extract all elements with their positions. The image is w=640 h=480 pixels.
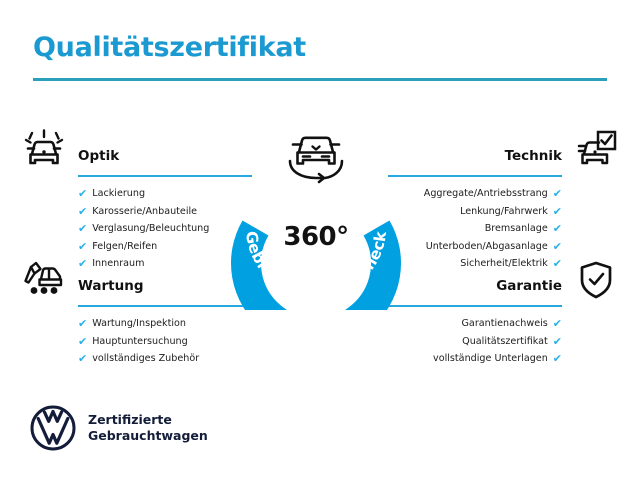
badge-360-gebrauchtwagen-check: Gebrauchtwagen-Check 360° bbox=[226, 124, 406, 310]
list-item-label: Felgen/Reifen bbox=[92, 238, 157, 256]
car-checkbox-icon bbox=[574, 128, 618, 172]
list-item: ✔Hauptuntersuchung bbox=[78, 333, 252, 351]
list-item-label: vollständige Unterlagen bbox=[433, 350, 548, 368]
checklist-garantie: ✔Garantienachweis ✔Qualitätszertifikat ✔… bbox=[388, 315, 618, 368]
badge-center-label: 360° bbox=[226, 224, 406, 250]
footer-line-2: Gebrauchtwagen bbox=[88, 428, 208, 444]
page-header: Qualitätszertifikat bbox=[33, 34, 607, 81]
list-item: ✔vollständiges Zubehör bbox=[78, 350, 252, 368]
check-icon: ✔ bbox=[78, 188, 87, 199]
list-item-label: Hauptuntersuchung bbox=[92, 333, 187, 351]
footer-line-1: Zertifizierte bbox=[88, 412, 208, 428]
check-icon: ✔ bbox=[78, 336, 87, 347]
section-divider-technik bbox=[388, 175, 562, 177]
list-item-label: Verglasung/Beleuchtung bbox=[92, 220, 209, 238]
footer-text: Zertifizierte Gebrauchtwagen bbox=[88, 412, 208, 444]
section-divider-garantie bbox=[388, 305, 562, 307]
section-optik: Optik ✔Lackierung ✔Karosserie/Anbauteile… bbox=[22, 128, 252, 273]
section-technik: Technik ✔Aggregate/Antriebsstrang ✔Lenku… bbox=[388, 128, 618, 273]
header-divider bbox=[33, 78, 607, 81]
check-icon: ✔ bbox=[553, 318, 562, 329]
check-icon: ✔ bbox=[78, 223, 87, 234]
list-item-label: Unterboden/Abgasanlage bbox=[426, 238, 548, 256]
shield-check-icon bbox=[574, 258, 618, 302]
page-title: Qualitätszertifikat bbox=[33, 34, 607, 61]
list-item-label: Lackierung bbox=[92, 185, 145, 203]
certificate-page: Qualitätszertifikat bbox=[0, 0, 640, 480]
list-item-label: Karosserie/Anbauteile bbox=[92, 203, 197, 221]
check-icon: ✔ bbox=[553, 353, 562, 364]
check-icon: ✔ bbox=[78, 206, 87, 217]
check-icon: ✔ bbox=[78, 241, 87, 252]
section-title-wartung: Wartung bbox=[78, 280, 144, 294]
list-item: ✔Unterboden/Abgasanlage bbox=[388, 238, 562, 256]
section-title-garantie: Garantie bbox=[496, 280, 562, 294]
vw-logo bbox=[30, 405, 76, 451]
list-item-label: Wartung/Inspektion bbox=[92, 315, 186, 333]
section-title-technik: Technik bbox=[505, 150, 562, 164]
check-icon: ✔ bbox=[553, 188, 562, 199]
check-icon: ✔ bbox=[553, 223, 562, 234]
check-icon: ✔ bbox=[553, 336, 562, 347]
list-item: ✔Lenkung/Fahrwerk bbox=[388, 203, 562, 221]
section-wartung: Wartung ✔Wartung/Inspektion ✔Hauptunters… bbox=[22, 258, 252, 368]
list-item: ✔Qualitätszertifikat bbox=[388, 333, 562, 351]
list-item-label: Qualitätszertifikat bbox=[462, 333, 548, 351]
checklist-wartung: ✔Wartung/Inspektion ✔Hauptuntersuchung ✔… bbox=[22, 315, 252, 368]
list-item-label: Bremsanlage bbox=[485, 220, 548, 238]
car-service-tool-icon bbox=[22, 258, 66, 302]
car-shine-icon bbox=[22, 128, 66, 172]
section-title-optik: Optik bbox=[78, 150, 119, 164]
list-item: ✔Garantienachweis bbox=[388, 315, 562, 333]
list-item: ✔Wartung/Inspektion bbox=[78, 315, 252, 333]
list-item: ✔vollständige Unterlagen bbox=[388, 350, 562, 368]
list-item-label: Aggregate/Antriebsstrang bbox=[424, 185, 548, 203]
list-item: ✔Aggregate/Antriebsstrang bbox=[388, 185, 562, 203]
check-icon: ✔ bbox=[78, 318, 87, 329]
check-icon: ✔ bbox=[553, 206, 562, 217]
list-item-label: vollständiges Zubehör bbox=[92, 350, 199, 368]
check-icon: ✔ bbox=[78, 353, 87, 364]
section-garantie: Garantie ✔Garantienachweis ✔Qualitätszer… bbox=[388, 258, 618, 368]
footer-branding: Zertifizierte Gebrauchtwagen bbox=[30, 405, 208, 451]
list-item: ✔Bremsanlage bbox=[388, 220, 562, 238]
list-item-label: Lenkung/Fahrwerk bbox=[460, 203, 548, 221]
check-icon: ✔ bbox=[553, 241, 562, 252]
list-item-label: Garantienachweis bbox=[462, 315, 548, 333]
